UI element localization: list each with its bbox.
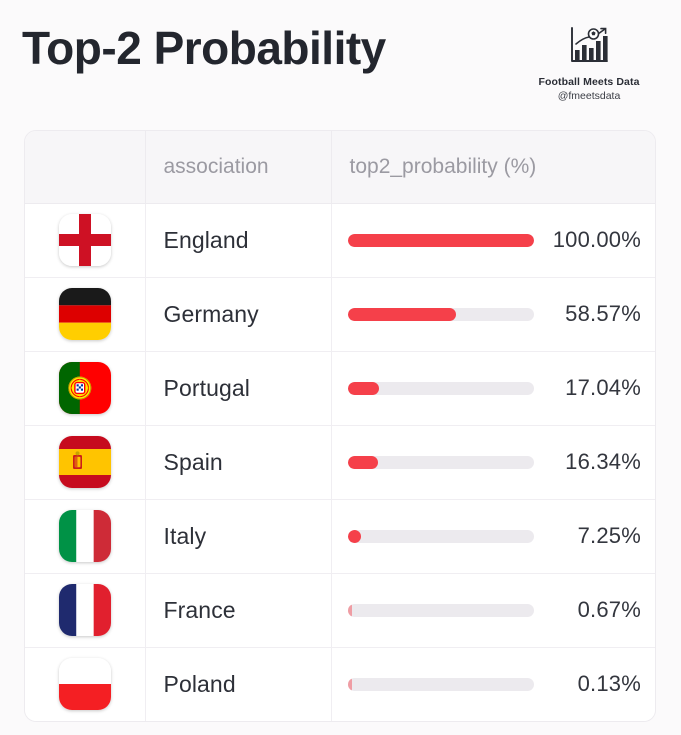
probability-bar-fill: [348, 456, 378, 469]
probability-bar-track: [348, 234, 534, 247]
flag-poland-icon: [59, 658, 111, 710]
table-row: Germany58.57%: [25, 277, 655, 351]
cell-probability: 7.25%: [331, 499, 655, 573]
cell-probability: 58.57%: [331, 277, 655, 351]
cell-probability: 17.04%: [331, 351, 655, 425]
probability-bar-fill: [348, 604, 352, 617]
probability-bar-track: [348, 382, 534, 395]
column-header-association: association: [145, 131, 331, 203]
flag-france-icon: [59, 584, 111, 636]
probability-value: 17.04%: [547, 375, 642, 401]
table-row: Poland0.13%: [25, 647, 655, 721]
cell-association: France: [145, 573, 331, 647]
cell-association: England: [145, 203, 331, 277]
probability-bar-fill: [348, 678, 352, 691]
probability-value: 0.67%: [547, 597, 642, 623]
cell-probability: 16.34%: [331, 425, 655, 499]
probability-bar-track: [348, 456, 534, 469]
probability-bar-group: 17.04%: [332, 352, 656, 425]
table-row: France0.67%: [25, 573, 655, 647]
brand-handle: @fmeetsdata: [519, 89, 659, 103]
probability-bar-group: 0.67%: [332, 574, 656, 647]
probability-bar-track: [348, 678, 534, 691]
cell-probability: 0.13%: [331, 647, 655, 721]
cell-flag: [25, 425, 145, 499]
column-header-flag: [25, 131, 145, 203]
column-header-probability: top2_probability (%): [331, 131, 655, 203]
bar-chart-football-icon: [567, 24, 611, 68]
flag-italy-icon: [59, 510, 111, 562]
cell-probability: 100.00%: [331, 203, 655, 277]
cell-association: Spain: [145, 425, 331, 499]
probability-value: 0.13%: [547, 671, 642, 697]
probability-bar-fill: [348, 234, 534, 247]
cell-association: Portugal: [145, 351, 331, 425]
table-body: England100.00% Germany58.57% Portugal17.…: [25, 203, 655, 721]
header: Top-2 Probability: [0, 0, 681, 120]
probability-value: 7.25%: [547, 523, 642, 549]
probability-value: 58.57%: [547, 301, 642, 327]
cell-association: Poland: [145, 647, 331, 721]
probability-bar-fill: [348, 308, 457, 321]
brand-name: Football Meets Data: [519, 75, 659, 89]
probability-bar-group: 58.57%: [332, 278, 656, 351]
cell-probability: 0.67%: [331, 573, 655, 647]
table-row: Portugal17.04%: [25, 351, 655, 425]
probability-bar-fill: [348, 530, 361, 543]
cell-association: Germany: [145, 277, 331, 351]
ranking-table-container: association top2_probability (%) England…: [24, 130, 656, 722]
table-header-row: association top2_probability (%): [25, 131, 655, 203]
cell-flag: [25, 203, 145, 277]
brand-block: Football Meets Data @fmeetsdata: [519, 24, 659, 103]
ranking-table: association top2_probability (%) England…: [25, 131, 655, 721]
flag-spain-icon: [59, 436, 111, 488]
probability-bar-group: 0.13%: [332, 648, 656, 721]
flag-portugal-icon: [59, 362, 111, 414]
probability-bar-track: [348, 308, 534, 321]
cell-flag: [25, 499, 145, 573]
cell-flag: [25, 277, 145, 351]
table-row: Spain16.34%: [25, 425, 655, 499]
cell-flag: [25, 351, 145, 425]
probability-value: 16.34%: [547, 449, 642, 475]
cell-flag: [25, 573, 145, 647]
probability-bar-fill: [348, 382, 380, 395]
probability-value: 100.00%: [547, 227, 642, 253]
probability-bar-group: 100.00%: [332, 204, 656, 277]
flag-germany-icon: [59, 288, 111, 340]
table-row: Italy7.25%: [25, 499, 655, 573]
probability-bar-group: 7.25%: [332, 500, 656, 573]
probability-bar-track: [348, 604, 534, 617]
table-header: association top2_probability (%): [25, 131, 655, 203]
cell-association: Italy: [145, 499, 331, 573]
flag-england-icon: [59, 214, 111, 266]
probability-bar-group: 16.34%: [332, 426, 656, 499]
page-title: Top-2 Probability: [22, 22, 386, 75]
table-row: England100.00%: [25, 203, 655, 277]
probability-bar-track: [348, 530, 534, 543]
cell-flag: [25, 647, 145, 721]
